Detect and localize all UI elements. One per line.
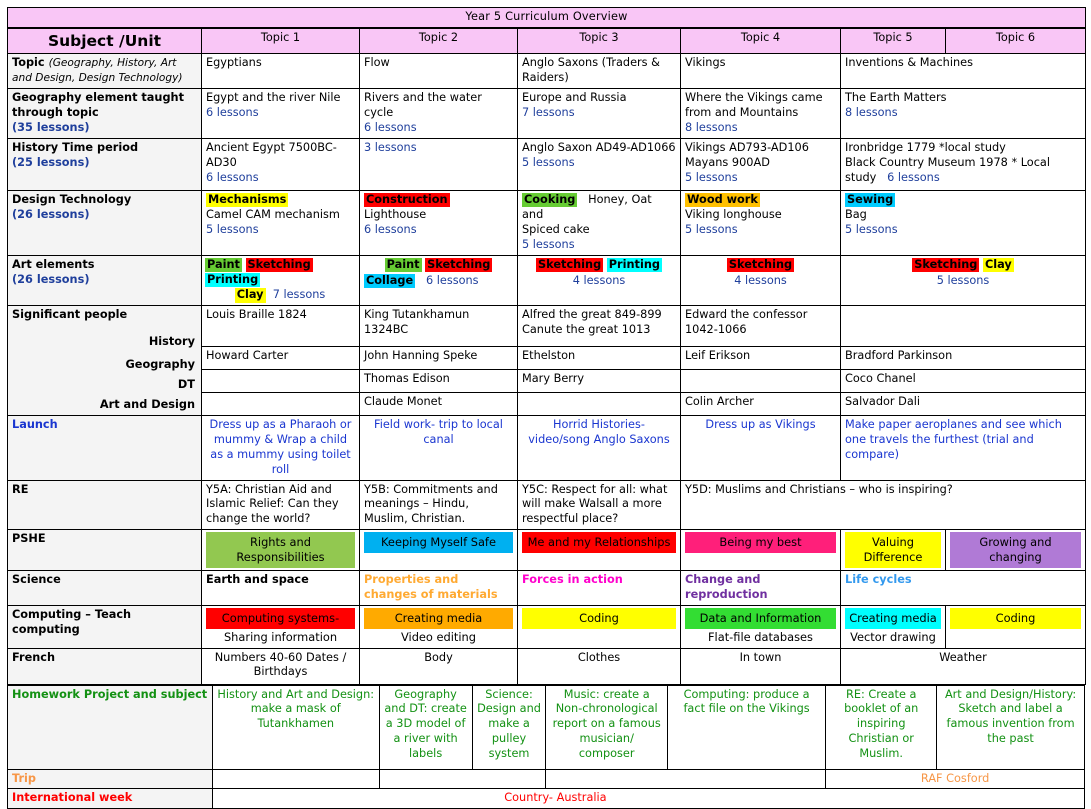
cell-science-3: Forces in action [518,570,681,605]
cell-dt-1: Mechanisms Camel CAM mechanism 5 lessons [202,191,360,256]
cell-science-4: Change and reproduction [681,570,841,605]
row-label-geography-lessons: (35 lessons) [12,121,90,134]
row-topic: Topic (Geography, History, Art and Desig… [8,54,1086,89]
row-label-international-week: International week [8,789,213,809]
art-chip-1c: Printing [205,273,260,287]
art-chip-3b: Printing [607,258,662,272]
cell-science-2: Properties and changes of materials [360,570,518,605]
cell-french-5: Weather [841,648,1086,684]
cell-pshe-4: Being my best [681,530,841,571]
pshe-badge-1: Rights and Responsibilities [206,532,355,568]
art-chip-1d: Clay [235,288,266,302]
cell-sig-geography-2: John Hanning Speke [360,346,518,369]
cell-french-2: Body [360,648,518,684]
row-label-geography: Geography element taught through topic (… [8,89,202,139]
row-label-art: Art elements (26 lessons) [8,255,202,306]
cell-re-3: Y5C: Respect for all: what will make Wal… [518,480,681,530]
row-label-significant-people: Significant people History Geography DT … [8,306,202,416]
row-label-dt-lessons: (26 lessons) [12,208,90,221]
dt-lessons-4: 5 lessons [685,223,738,236]
cell-pshe-6: Growing and changing [946,530,1086,571]
dt-chip-4: Wood work [685,193,760,207]
cell-history-3: Anglo Saxon AD49-AD1066 5 lessons [518,139,681,191]
science-text-4: Change and reproduction [685,573,768,601]
cell-homework-6: RE: Create a booklet of an inspiring Chr… [826,685,937,769]
row-label-computing: Computing – Teach computing [8,605,202,648]
row-label-launch: Launch [8,415,202,480]
cell-art-2: Paint Sketching Collage 6 lessons [360,255,518,306]
history-line1-5: Ironbridge 1779 *local study [845,141,1006,154]
history-lessons-2: 3 lessons [364,141,417,154]
row-label-re: RE [8,480,202,530]
cell-topic-2: Flow [360,54,518,89]
row-label-significant-people-text: Significant people [12,308,127,321]
dt-detail-3: Spiced cake [522,223,590,236]
art-chip-1a: Paint [205,258,242,272]
row-significant-people-history: Significant people History Geography DT … [8,306,1086,346]
row-computing: Computing – Teach computing Computing sy… [8,605,1086,648]
row-geography: Geography element taught through topic (… [8,89,1086,139]
dt-detail-2: Lighthouse [364,208,426,221]
cell-launch-4: Dress up as Vikings [681,415,841,480]
geography-text-2: Rivers and the water cycle [364,91,482,119]
row-label-art-text: Art elements [12,258,94,271]
cell-art-1: Paint Sketching Printing Clay 7 lessons [202,255,360,306]
dt-chip-2: Construction [364,193,450,207]
table-header-row: Subject /Unit Topic 1 Topic 2 Topic 3 To… [8,28,1086,53]
dt-chip-3: Cooking [522,193,577,207]
cell-topic-1: Egyptians [202,54,360,89]
history-line1-4: Vikings AD793-AD106 [685,141,809,154]
cell-sig-history-1: Louis Braille 1824 [202,306,360,346]
science-text-1: Earth and space [206,573,309,586]
geography-text-5: The Earth Matters [845,91,947,104]
art-chip-1b: Sketching [246,258,313,272]
art-lessons-5: 5 lessons [845,274,1081,289]
cell-dt-5: Sewing Bag 5 lessons [841,191,1086,256]
cell-re-4: Y5D: Muslims and Christians – who is ins… [681,480,1086,530]
cell-pshe-5: Valuing Difference [841,530,946,571]
cell-pshe-1: Rights and Responsibilities [202,530,360,571]
cell-science-1: Earth and space [202,570,360,605]
row-label-science: Science [8,570,202,605]
dt-chip-1: Mechanisms [206,193,288,207]
cell-art-5: Sketching Clay 5 lessons [841,255,1086,306]
row-label-dt: Design Technology (26 lessons) [8,191,202,256]
sublabel-art-design: Art and Design [12,398,197,413]
dt-lessons-1: 5 lessons [206,223,259,236]
science-text-2: Properties and changes of materials [364,573,498,601]
cell-dt-2: Construction Lighthouse 6 lessons [360,191,518,256]
dt-lessons-2: 6 lessons [364,223,417,236]
cell-history-2: 3 lessons [360,139,518,191]
cell-computing-4: Data and Information Flat-file databases [681,605,841,648]
cell-science-5: Life cycles [841,570,1086,605]
cell-trip-1 [212,769,379,789]
computing-sub-6 [950,629,1081,631]
row-label-topic: Topic (Geography, History, Art and Desig… [8,54,202,89]
curriculum-overview-page: Year 5 Curriculum Overview Subject /Unit… [0,0,1091,738]
curriculum-table: Subject /Unit Topic 1 Topic 2 Topic 3 To… [7,28,1086,685]
cell-history-4: Vikings AD793-AD106 Mayans 900AD 5 lesso… [681,139,841,191]
cell-computing-3: Coding [518,605,681,648]
cell-sig-geography-4: Leif Erikson [681,346,841,369]
cell-international-week-value: Country- Australia [212,789,1084,809]
row-homework: Homework Project and subject History and… [8,685,1085,769]
art-chip-5a: Sketching [912,258,979,272]
cell-sig-history-2: King Tutankhamun 1324BC [360,306,518,346]
cell-sig-art-1 [202,392,360,415]
art-lessons-2: 6 lessons [426,274,479,287]
art-lessons-3: 4 lessons [522,274,676,289]
cell-geography-1: Egypt and the river Nile 6 lessons [202,89,360,139]
cell-sig-dt-3: Mary Berry [518,369,681,392]
header-topic-6: Topic 6 [946,28,1086,53]
art-chip-3a: Sketching [536,258,603,272]
row-re: RE Y5A: Christian Aid and Islamic Relief… [8,480,1086,530]
computing-sub-5: Vector drawing [845,629,941,646]
row-launch: Launch Dress up as a Pharaoh or mummy & … [8,415,1086,480]
computing-badge-2: Creating media [364,608,513,629]
cell-re-2: Y5B: Commitments and meanings – Hindu, M… [360,480,518,530]
row-design-technology: Design Technology (26 lessons) Mechanism… [8,191,1086,256]
cell-sig-geography-1: Howard Carter [202,346,360,369]
computing-sub-3 [522,629,676,631]
row-label-history: History Time period (25 lessons) [8,139,202,191]
cell-trip-2 [379,769,546,789]
science-text-5: Life cycles [845,573,912,586]
row-science: Science Earth and space Properties and c… [8,570,1086,605]
cell-homework-2: Geography and DT: create a 3D model of a… [379,685,472,769]
computing-badge-1: Computing systems- [206,608,355,629]
cell-geography-5: The Earth Matters 8 lessons [841,89,1086,139]
cell-homework-5: Computing: produce a fact file on the Vi… [667,685,825,769]
dt-lessons-5: 5 lessons [845,223,898,236]
cell-trip-3 [546,769,826,789]
page-title: Year 5 Curriculum Overview [8,8,1086,28]
row-label-topic-text: Topic [12,56,45,69]
sublabel-geography: Geography [12,358,197,373]
row-trip: Trip RAF Cosford [8,769,1085,789]
history-lessons-4: 5 lessons [685,171,738,184]
cell-computing-6: Coding [946,605,1086,648]
cell-sig-history-4: Edward the confessor 1042-1066 [681,306,841,346]
cell-computing-1: Computing systems- Sharing information [202,605,360,648]
cell-pshe-3: Me and my Relationships [518,530,681,571]
cell-computing-2: Creating media Video editing [360,605,518,648]
pshe-badge-6: Growing and changing [950,532,1081,568]
cell-topic-4: Vikings [681,54,841,89]
cell-sig-geography-5: Bradford Parkinson [841,346,1086,369]
computing-badge-6: Coding [950,608,1081,629]
history-line2-4: Mayans 900AD [685,156,770,169]
cell-geography-3: Europe and Russia 7 lessons [518,89,681,139]
pshe-badge-3: Me and my Relationships [522,532,676,553]
dt-detail-4: Viking longhouse [685,208,782,221]
geography-lessons-3: 7 lessons [522,106,575,119]
cell-sig-history-3: Alfred the great 849-899 Canute the grea… [518,306,681,346]
dt-detail-1: Camel CAM mechanism [206,208,340,221]
header-topic-4: Topic 4 [681,28,841,53]
cell-trip-5: RAF Cosford [826,769,1085,789]
cell-homework-4: Music: create a Non-chronological report… [546,685,667,769]
cell-sig-geography-3: Ethelston [518,346,681,369]
history-lessons-5: 6 lessons [887,171,940,184]
cell-art-3: Sketching Printing 4 lessons [518,255,681,306]
history-lessons-1: 6 lessons [206,171,259,184]
sublabel-dt: DT [12,378,197,393]
cell-sig-dt-2: Thomas Edison [360,369,518,392]
cell-homework-3: Science: Design and make a pulley system [472,685,546,769]
row-label-art-lessons: (26 lessons) [12,273,90,286]
cell-french-1: Numbers 40-60 Dates / Birthdays [202,648,360,684]
computing-badge-5: Creating media [845,608,941,629]
art-lessons-1: 7 lessons [273,288,326,301]
sublabel-history: History [12,335,197,350]
history-line2-5: Black Country Museum 1978 * Local study [845,156,1050,184]
geography-lessons-5: 8 lessons [845,106,898,119]
row-label-dt-text: Design Technology [12,193,131,206]
cell-re-1: Y5A: Christian Aid and Islamic Relief: C… [202,480,360,530]
geography-text-3: Europe and Russia [522,91,627,104]
row-label-trip: Trip [8,769,213,789]
cell-launch-1: Dress up as a Pharaoh or mummy & Wrap a … [202,415,360,480]
geography-lessons-4: 8 lessons [685,121,738,134]
history-lessons-3: 5 lessons [522,156,575,169]
computing-sub-1: Sharing information [206,629,355,646]
cell-sig-art-3 [518,392,681,415]
geography-lessons-2: 6 lessons [364,121,417,134]
computing-sub-2: Video editing [364,629,513,646]
pshe-badge-2: Keeping Myself Safe [364,532,513,553]
cell-geography-2: Rivers and the water cycle 6 lessons [360,89,518,139]
cell-history-5: Ironbridge 1779 *local study Black Count… [841,139,1086,191]
computing-sub-4: Flat-file databases [685,629,836,646]
cell-sig-history-5 [841,306,1086,346]
pshe-badge-5: Valuing Difference [845,532,941,568]
title-table: Year 5 Curriculum Overview [7,7,1086,28]
dt-lessons-3: 5 lessons [522,238,575,251]
cell-sig-art-5: Salvador Dali [841,392,1086,415]
cell-sig-art-4: Colin Archer [681,392,841,415]
cell-history-1: Ancient Egypt 7500BC-AD30 6 lessons [202,139,360,191]
cell-launch-2: Field work- trip to local canal [360,415,518,480]
header-topic-5: Topic 5 [841,28,946,53]
cell-dt-3: Cooking Honey, Oat and Spiced cake 5 les… [518,191,681,256]
art-chip-2a: Paint [385,258,422,272]
cell-homework-1: History and Art and Design: make a mask … [212,685,379,769]
art-chip-4a: Sketching [727,258,794,272]
row-label-homework: Homework Project and subject [8,685,213,769]
row-history: History Time period (25 lessons) Ancient… [8,139,1086,191]
cell-french-4: In town [681,648,841,684]
cell-art-4: Sketching 4 lessons [681,255,841,306]
row-label-french: French [8,648,202,684]
cell-sig-dt-5: Coco Chanel [841,369,1086,392]
header-topic-3: Topic 3 [518,28,681,53]
bottom-table: Homework Project and subject History and… [7,685,1085,809]
header-topic-2: Topic 2 [360,28,518,53]
row-art-elements: Art elements (26 lessons) Paint Sketchin… [8,255,1086,306]
art-chip-2c: Collage [364,274,415,288]
art-lessons-4: 4 lessons [685,274,836,289]
cell-sig-dt-1 [202,369,360,392]
header-topic-1: Topic 1 [202,28,360,53]
row-label-history-text: History Time period [12,141,138,154]
cell-topic-3: Anglo Saxons (Traders & Raiders) [518,54,681,89]
science-text-3: Forces in action [522,573,623,586]
cell-french-3: Clothes [518,648,681,684]
art-chip-2b: Sketching [425,258,492,272]
cell-launch-3: Horrid Histories- video/song Anglo Saxon… [518,415,681,480]
row-pshe: PSHE Rights and Responsibilities Keeping… [8,530,1086,571]
geography-lessons-1: 6 lessons [206,106,259,119]
cell-geography-4: Where the Vikings came from and Mountain… [681,89,841,139]
cell-homework-7: Art and Design/History: Sketch and label… [937,685,1085,769]
cell-sig-dt-4 [681,369,841,392]
dt-detail-5: Bag [845,208,867,221]
cell-launch-5: Make paper aeroplanes and see which one … [841,415,1086,480]
geography-text-1: Egypt and the river Nile [206,91,341,104]
computing-badge-4: Data and Information [685,608,836,629]
dt-chip-5: Sewing [845,193,895,207]
cell-topic-5: Inventions & Machines [841,54,1086,89]
art-chip-5b: Clay [983,258,1014,272]
cell-dt-4: Wood work Viking longhouse 5 lessons [681,191,841,256]
cell-sig-art-2: Claude Monet [360,392,518,415]
history-line1-3: Anglo Saxon AD49-AD1066 [522,141,676,154]
geography-text-4: Where the Vikings came from and Mountain… [685,91,823,119]
row-french: French Numbers 40-60 Dates / Birthdays B… [8,648,1086,684]
cell-pshe-2: Keeping Myself Safe [360,530,518,571]
header-subject-unit: Subject /Unit [8,28,202,53]
row-label-pshe: PSHE [8,530,202,571]
history-line1-1: Ancient Egypt 7500BC-AD30 [206,141,337,169]
row-label-history-lessons: (25 lessons) [12,156,90,169]
pshe-badge-4: Being my best [685,532,836,553]
computing-badge-3: Coding [522,608,676,629]
cell-computing-5: Creating media Vector drawing [841,605,946,648]
row-international-week: International week Country- Australia [8,789,1085,809]
row-label-geography-text: Geography element taught through topic [12,91,184,119]
